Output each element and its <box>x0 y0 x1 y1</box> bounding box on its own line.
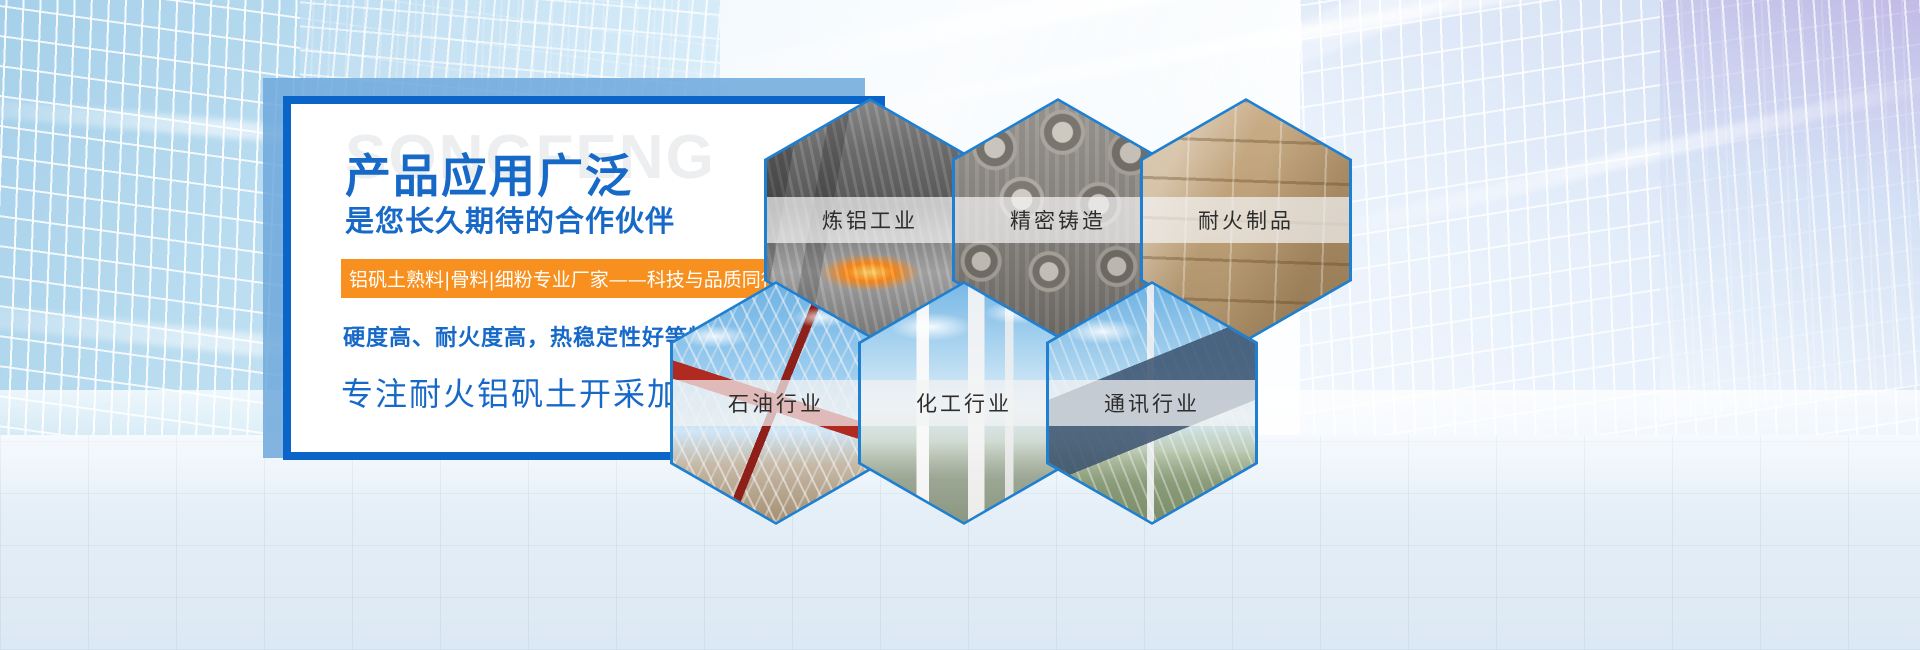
hex-label: 化工行业 <box>861 380 1067 426</box>
headline-secondary: 是您长久期待的合作伙伴 <box>345 198 675 240</box>
headline-primary: 产品应用广泛 <box>345 140 633 206</box>
focus-text: 专注耐火铝矾土开采加工 <box>341 369 715 415</box>
hex-label: 耐火制品 <box>1143 197 1349 243</box>
hex-label: 精密铸造 <box>955 197 1161 243</box>
product-application-banner: SONGFENG 产品应用广泛 是您长久期待的合作伙伴 铝矾土熟料|骨料|细粉专… <box>0 0 1920 650</box>
hex-label: 石油行业 <box>673 380 879 426</box>
hex-label: 通讯行业 <box>1049 380 1255 426</box>
tagline-text: 铝矾土熟料|骨料|细粉专业厂家——科技与品质同行 <box>349 265 780 292</box>
tagline-highlight-bar: 铝矾土熟料|骨料|细粉专业厂家——科技与品质同行 <box>341 259 788 298</box>
glass-facade-right-secondary <box>1660 0 1920 421</box>
hex-label: 炼铝工业 <box>767 197 973 243</box>
